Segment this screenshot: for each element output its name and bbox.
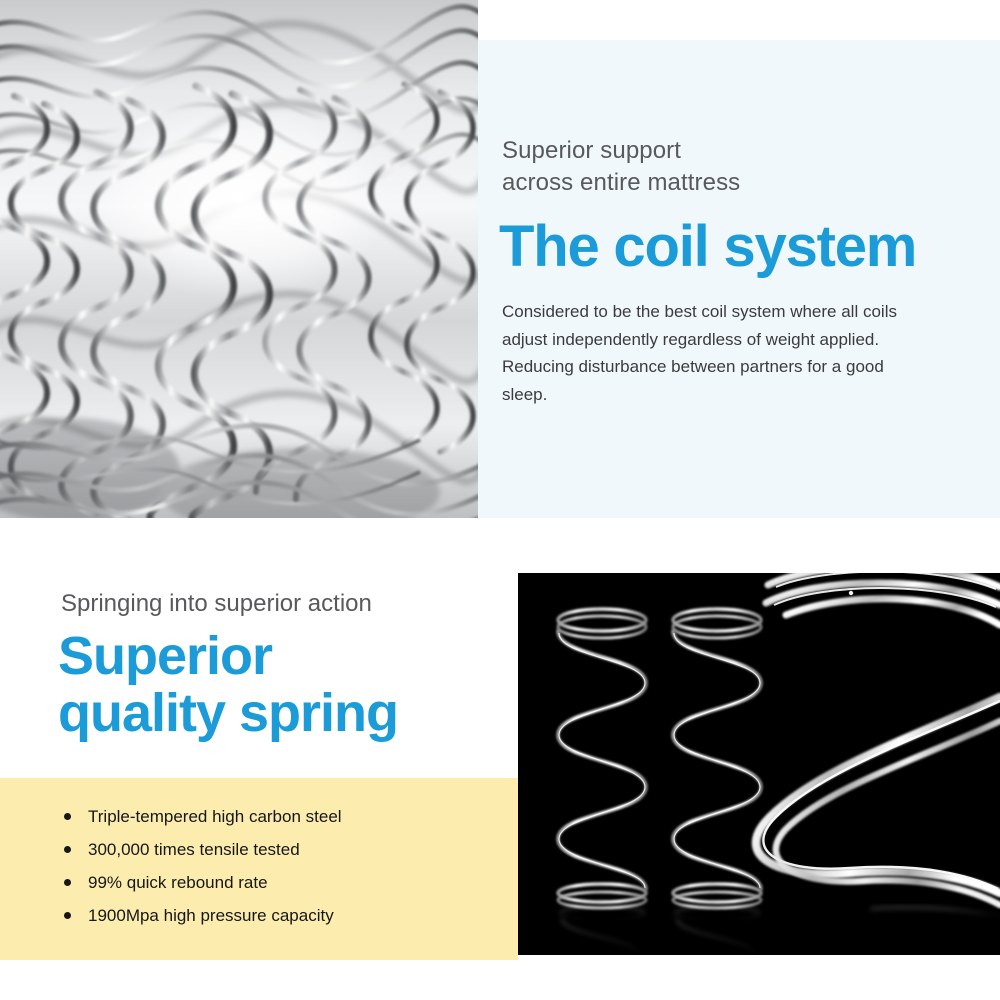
list-item: 300,000 times tensile tested (62, 841, 482, 858)
quality-spring-kicker: Springing into superior action (61, 588, 491, 619)
coil-system-kicker-line2: across entire mattress (502, 167, 932, 199)
list-item: 99% quick rebound rate (62, 874, 482, 891)
coil-springs-closeup-photo (0, 0, 478, 518)
list-item: Triple-tempered high carbon steel (62, 808, 482, 825)
coil-system-text-panel: Superior support across entire mattress … (478, 40, 1000, 518)
quality-spring-headline: Superior quality spring (58, 628, 498, 742)
coil-system-headline: The coil system (499, 218, 969, 276)
coil-system-kicker-line1: Superior support (502, 135, 932, 167)
coil-system-body-text: Considered to be the best coil system wh… (502, 298, 902, 408)
quality-spring-headline-line2: quality spring (58, 685, 498, 742)
spring-features-list: Triple-tempered high carbon steel 300,00… (62, 808, 482, 924)
spring-features-panel: Triple-tempered high carbon steel 300,00… (0, 778, 518, 960)
coil-system-kicker: Superior support across entire mattress (502, 135, 932, 198)
list-item: 1900Mpa high pressure capacity (62, 907, 482, 924)
product-feature-page: Superior support across entire mattress … (0, 0, 1000, 1000)
springs-on-black-photo (518, 573, 1000, 955)
quality-spring-headline-line1: Superior (58, 628, 498, 685)
